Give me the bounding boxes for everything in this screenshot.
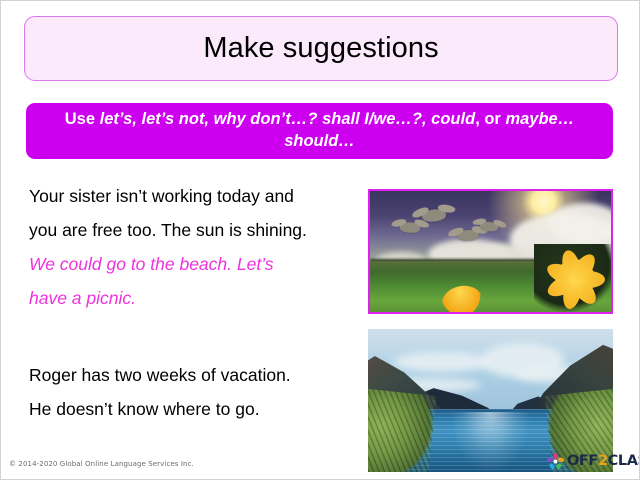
off2class-logo: OFF2CLASS® <box>547 453 640 470</box>
slide: Make suggestions Use let’s, let’s not, w… <box>0 0 640 480</box>
bird-shape <box>456 229 479 241</box>
page-title: Make suggestions <box>203 33 438 65</box>
daffodil-flower <box>544 248 606 310</box>
exercise-1-prompt-line-2: you are free too. The sun is shining. <box>29 213 359 247</box>
exercise-2-text: Roger has two weeks of vacation. He does… <box>29 358 359 426</box>
exercise-1-answer-line-1: We could go to the beach. Let’s <box>29 247 359 281</box>
water-sun-reflection <box>451 412 529 472</box>
banner-segment-2: , or <box>475 110 505 128</box>
banner-segment-1: let’s, let’s not, why don’t…? shall I/we… <box>100 110 476 128</box>
logo-word-part-1: OFF <box>567 453 598 469</box>
logo-word-part-2: 2 <box>598 453 608 469</box>
logo-word-part-3: CLASS <box>608 453 640 469</box>
fjord-lake-photo-inner <box>368 329 613 472</box>
meadow-rainbow-photo <box>368 189 613 314</box>
exercise-1-text: Your sister isn’t working today and you … <box>29 179 359 315</box>
exercise-1-prompt-line-1: Your sister isn’t working today and <box>29 179 359 213</box>
exercise-2-prompt-line-2: He doesn’t know where to go. <box>29 392 359 426</box>
cloud-shape <box>393 352 491 372</box>
cloud-shape <box>548 203 613 244</box>
exercise-2-prompt-line-1: Roger has two weeks of vacation. <box>29 358 359 392</box>
instruction-banner: Use let’s, let’s not, why don’t…? shall … <box>26 103 613 159</box>
off2class-wordmark: OFF2CLASS® <box>567 454 640 469</box>
exercise-1-answer-line-2: have a picnic. <box>29 281 359 315</box>
palm-frond <box>368 388 436 472</box>
slide-title-box: Make suggestions <box>24 16 618 81</box>
instruction-banner-text: Use let’s, let’s not, why don’t…? shall … <box>36 109 603 153</box>
fjord-lake-photo <box>368 329 613 472</box>
banner-segment-0: Use <box>65 110 100 128</box>
meadow-rainbow-photo-inner <box>370 191 611 312</box>
star-icon <box>547 453 564 470</box>
footer-copyright: © 2014-2020 Global Online Language Servi… <box>9 460 194 468</box>
